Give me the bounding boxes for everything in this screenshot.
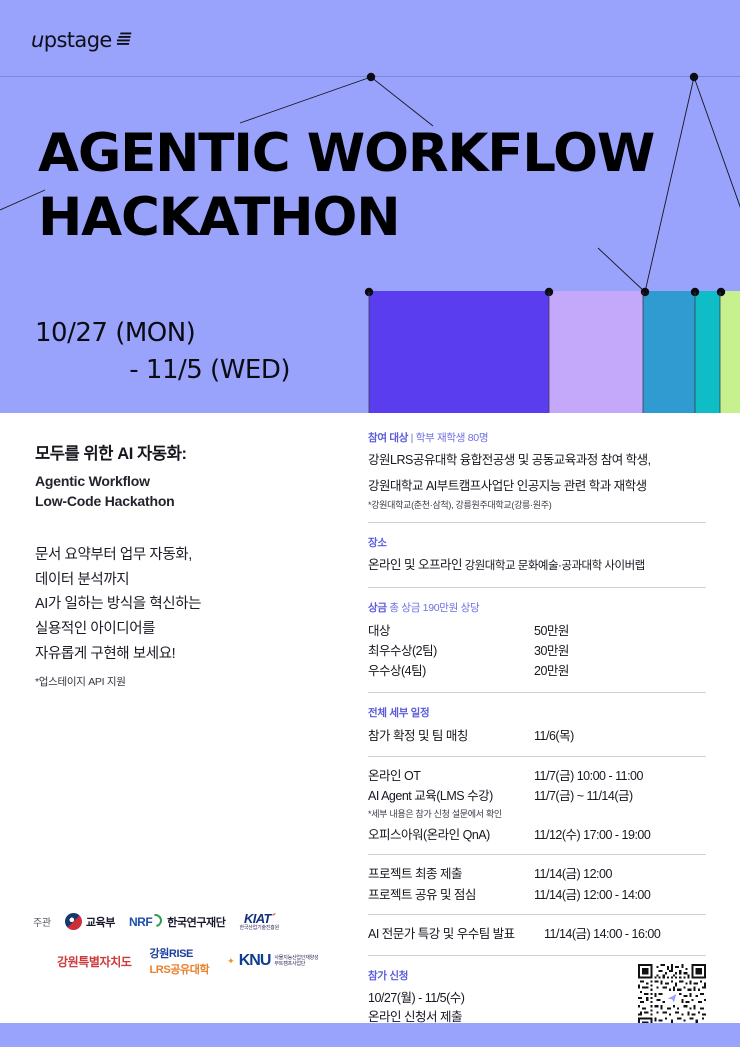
kiat-dot-icon: ´ (271, 911, 275, 926)
divider (368, 587, 706, 588)
section-place: 장소 온라인 및 오프라인 강원대학교 문화예술·공과대학 사이버랩 (368, 535, 706, 576)
schedule-label: 온라인 OT (368, 766, 534, 786)
prize-value: 50만원 (534, 621, 569, 641)
gangwon-province-logo: 강원특별자치도 (57, 953, 131, 970)
block-teal (695, 291, 720, 413)
apply-line-1: 10/27(월) - 11/5(수) (368, 989, 638, 1008)
section-prize-heading: 상금 총 상금 190만원 상당 (368, 600, 706, 615)
schedule-value: 11/14(금) 12:00 (534, 864, 612, 884)
sponsor-row-1: 주관 교육부 NRF 한국연구재단 KIAT´ 한국산업기술진흥원 (33, 912, 353, 931)
prize-row: 우수상(4팀) 20만원 (368, 661, 706, 681)
schedule-row: 온라인 OT 11/7(금) 10:00 - 11:00 (368, 766, 706, 786)
divider (368, 692, 706, 693)
place-strong: 온라인 및 오프라인 (368, 558, 462, 572)
prize-head-rest: 총 상금 190만원 상당 (387, 602, 480, 614)
schedule-row: 오피스아워(온라인 QnA) 11/12(수) 17:00 - 19:00 (368, 825, 706, 845)
kiat-acronym: KIAT (244, 911, 271, 926)
gangwon-rise-logo: 강원RISE LRS공유대학 (149, 945, 209, 977)
right-column: 참여 대상 | 학부 재학생 80명 강원LRS공유대학 융합전공생 및 공동교… (368, 430, 706, 1032)
event-dates: 10/27 (MON) - 11/5 (WED) (35, 315, 335, 389)
lead-en-line-2: Low-Code Hackathon (35, 491, 345, 511)
schedule-value: 11/14(금) 14:00 - 16:00 (544, 924, 660, 944)
schedule-value: 11/7(금) ~ 11/14(금) (534, 786, 633, 806)
nrf-logo-text: 한국연구재단 (167, 914, 225, 930)
knu-star-icon: ✦ (227, 956, 235, 967)
poster-root: upstage AGENTIC WORKFLOW HACKATHON 10/27… (0, 0, 740, 1047)
schedule-label: 프로젝트 공유 및 점심 (368, 885, 534, 905)
place-detail: 강원대학교 문화예술·공과대학 사이버랩 (462, 560, 645, 572)
schedule-value: 11/12(수) 17:00 - 19:00 (534, 825, 650, 845)
target-head-rest: | 학부 재학생 80명 (408, 432, 488, 444)
schedule-note: *세부 내용은 참가 신청 설문에서 확인 (368, 807, 706, 820)
knu-sub-line-2: 부트캠프사업단 (274, 961, 318, 967)
schedule-row: AI Agent 교육(LMS 수강) 11/7(금) ~ 11/14(금) (368, 786, 706, 806)
schedule-row: 참가 확정 및 팀 매칭 11/6(목) (368, 726, 706, 746)
prize-row: 대상 50만원 (368, 621, 706, 641)
prize-label: 최우수상(2팀) (368, 641, 534, 661)
block-lavender (549, 291, 643, 413)
divider (368, 914, 706, 915)
schedule-label: AI 전문가 특강 및 우수팀 발표 (368, 924, 544, 944)
lead-body-line: 자유롭게 구현해 보세요! (35, 642, 345, 667)
schedule-value: 11/14(금) 12:00 - 14:00 (534, 885, 650, 905)
section-prize: 상금 총 상금 190만원 상당 대상 50만원 최우수상(2팀) 30만원 우… (368, 600, 706, 682)
upstage-bars-icon (117, 30, 137, 50)
section-apply-heading: 참가 신청 (368, 968, 638, 983)
block-lime (720, 291, 740, 413)
gangwon-province-text: 강원특별자치도 (57, 953, 131, 970)
schedule-label: 프로젝트 최종 제출 (368, 864, 534, 884)
kiat-logo-text: KIAT´ (244, 912, 275, 925)
title-line-2: HACKATHON (38, 186, 678, 250)
lead-body-line: 실용적인 아이디어를 (35, 617, 345, 642)
target-line-2: 강원대학교 AI부트캠프사업단 인공지능 관련 학과 재학생 (368, 477, 706, 496)
schedule-value: 11/7(금) 10:00 - 11:00 (534, 766, 643, 786)
section-target: 참여 대상 | 학부 재학생 80명 강원LRS공유대학 융합전공생 및 공동교… (368, 430, 706, 511)
gangwon-rise-top: 강원RISE (149, 945, 193, 961)
date-line-2: - 11/5 (WED) (35, 352, 335, 389)
footer-band (0, 1023, 740, 1047)
section-schedule-heading: 전체 세부 일정 (368, 705, 706, 720)
lead-body-line: 문서 요약부터 업무 자동화, (35, 543, 345, 568)
schedule-row: 프로젝트 최종 제출 11/14(금) 12:00 (368, 864, 706, 884)
brand-wordmark: upstage (31, 28, 112, 52)
section-place-heading: 장소 (368, 535, 706, 550)
schedule-label: AI Agent 교육(LMS 수강) (368, 786, 534, 806)
lead-body: 문서 요약부터 업무 자동화, 데이터 분석까지 AI가 일하는 방식을 혁신하… (35, 543, 345, 668)
schedule-row: 프로젝트 공유 및 점심 11/14(금) 12:00 - 14:00 (368, 885, 706, 905)
schedule-row: AI 전문가 특강 및 우수팀 발표 11/14(금) 14:00 - 16:0… (368, 924, 706, 944)
left-column: 모두를 위한 AI 자동화: Agentic Workflow Low-Code… (35, 440, 345, 689)
brand-name-italic: u (31, 28, 44, 52)
hero-divider-line (0, 76, 740, 77)
block-blue (643, 291, 695, 413)
sponsor-logos: 주관 교육부 NRF 한국연구재단 KIAT´ 한국산업기술진흥원 (33, 912, 353, 977)
sponsor-label: 주관 (33, 914, 51, 929)
divider (368, 522, 706, 523)
prize-label: 우수상(4팀) (368, 661, 534, 681)
page-title: AGENTIC WORKFLOW HACKATHON (38, 122, 678, 249)
section-target-heading: 참여 대상 | 학부 재학생 80명 (368, 430, 706, 445)
apply-text: 참가 신청 10/27(월) - 11/5(수) 온라인 신청서 제출 (368, 968, 638, 1028)
content-section: 모두를 위한 AI 자동화: Agentic Workflow Low-Code… (0, 413, 740, 1047)
title-line-1: AGENTIC WORKFLOW (38, 123, 654, 184)
knu-acronym: KNU (239, 953, 271, 969)
nrf-logo: NRF 한국연구재단 (129, 914, 226, 930)
divider (368, 955, 706, 956)
moe-logo: 교육부 (65, 913, 115, 930)
lead-headline-ko: 모두를 위한 AI 자동화: (35, 440, 345, 464)
prize-row: 최우수상(2팀) 30만원 (368, 641, 706, 661)
target-line-1: 강원LRS공유대학 융합전공생 및 공동교육과정 참여 학생, (368, 451, 706, 470)
api-support-note: *업스테이지 API 지원 (35, 674, 345, 689)
lead-en-line-1: Agentic Workflow (35, 471, 345, 491)
brand-name-rest: pstage (44, 28, 112, 52)
knu-sub: 사물지능산업인재양성 부트캠프사업단 (274, 955, 318, 967)
hero-section: upstage AGENTIC WORKFLOW HACKATHON 10/27… (0, 0, 740, 413)
target-note: *강원대학교(춘천·삼척), 강릉원주대학교(강릉·원주) (368, 498, 706, 511)
target-head-bold: 참여 대상 (368, 432, 408, 444)
knu-logo: ✦ KNU 사물지능산업인재양성 부트캠프사업단 (227, 953, 318, 969)
kiat-logo: KIAT´ 한국산업기술진흥원 (239, 912, 279, 931)
prize-value: 30만원 (534, 641, 569, 661)
schedule-label: 참가 확정 및 팀 매칭 (368, 726, 534, 746)
lead-headline-en: Agentic Workflow Low-Code Hackathon (35, 471, 345, 512)
prize-value: 20만원 (534, 661, 569, 681)
prize-head-bold: 상금 (368, 602, 387, 614)
taeguk-icon (65, 913, 82, 930)
date-line-1: 10/27 (MON) (35, 318, 195, 348)
qr-code-icon[interactable] (638, 964, 706, 1032)
divider (368, 854, 706, 855)
gangwon-rise-bottom: LRS공유대학 (149, 961, 209, 977)
nrf-badge-text: NRF (129, 915, 155, 929)
lead-body-line: AI가 일하는 방식을 혁신하는 (35, 592, 345, 617)
block-indigo (369, 291, 549, 413)
schedule-label: 오피스아워(온라인 QnA) (368, 825, 534, 845)
sponsor-row-2: 강원특별자치도 강원RISE LRS공유대학 ✦ KNU 사물지능산업인재양성 … (33, 945, 353, 977)
lead-body-line: 데이터 분석까지 (35, 568, 345, 593)
brand-logo[interactable]: upstage (31, 28, 137, 52)
schedule-value: 11/6(목) (534, 726, 574, 746)
divider (368, 756, 706, 757)
place-line: 온라인 및 오프라인 강원대학교 문화예술·공과대학 사이버랩 (368, 556, 706, 576)
moe-logo-text: 교육부 (86, 914, 115, 930)
section-schedule: 전체 세부 일정 참가 확정 및 팀 매칭 11/6(목) 온라인 OT 11/… (368, 705, 706, 944)
prize-label: 대상 (368, 621, 534, 641)
kiat-logo-sub: 한국산업기술진흥원 (239, 925, 279, 931)
